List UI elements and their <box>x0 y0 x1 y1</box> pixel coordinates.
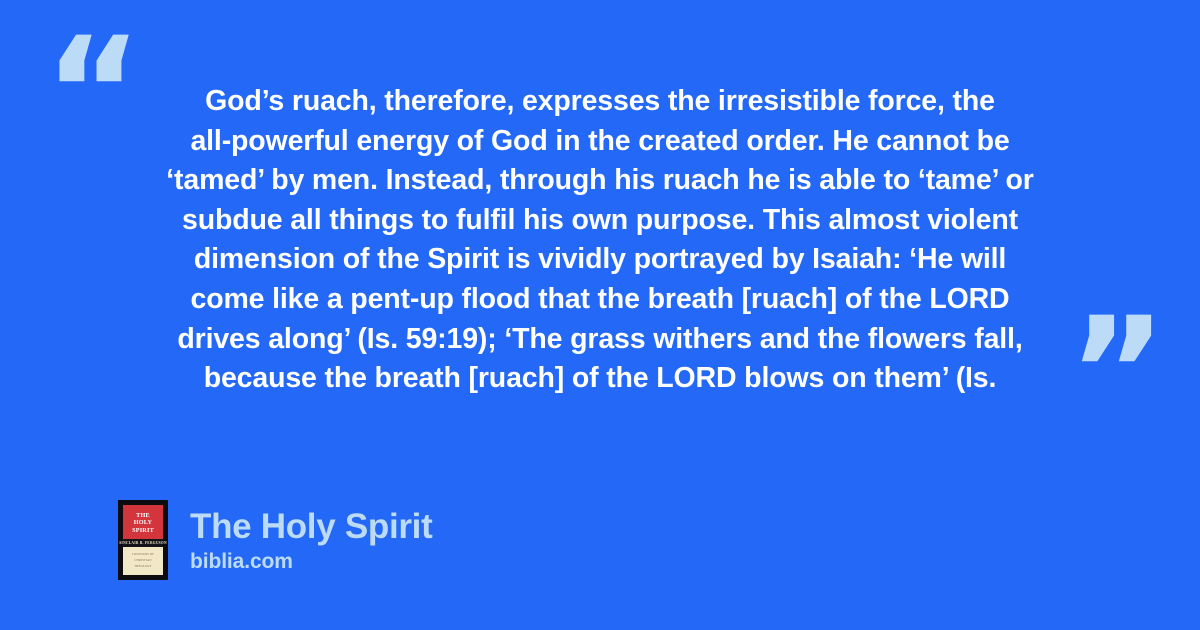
book-cover-series-block: CONTOURS OF CHRISTIAN THEOLOGY <box>123 547 163 575</box>
book-cover-title-line-1: THE <box>136 512 150 519</box>
book-cover-author-band: SINCLAIR B. FERGUSON <box>123 539 163 547</box>
site-url[interactable]: biblia.com <box>190 549 432 574</box>
book-cover-inner: THE HOLY SPIRIT SINCLAIR B. FERGUSON CON… <box>123 505 163 575</box>
book-cover-series-line-3: THEOLOGY <box>134 565 151 568</box>
book-cover-title-line-2: HOLY <box>134 519 152 526</box>
quote-card: “ ” God’s ruach, therefore, expresses th… <box>0 0 1200 630</box>
book-cover-series-line-1: CONTOURS OF <box>132 553 154 556</box>
book-cover-thumbnail[interactable]: THE HOLY SPIRIT SINCLAIR B. FERGUSON CON… <box>118 500 168 580</box>
quote-block: God’s ruach, therefore, expresses the ir… <box>100 82 1100 399</box>
book-cover-author: SINCLAIR B. FERGUSON <box>119 541 167 545</box>
quote-text: God’s ruach, therefore, expresses the ir… <box>100 82 1100 399</box>
book-title[interactable]: The Holy Spirit <box>190 507 432 547</box>
book-cover-title-block: THE HOLY SPIRIT <box>123 505 163 539</box>
book-cover-title-line-3: SPIRIT <box>132 527 154 534</box>
book-cover-series-line-2: CHRISTIAN <box>134 559 151 562</box>
footer: THE HOLY SPIRIT SINCLAIR B. FERGUSON CON… <box>118 500 432 580</box>
footer-text: The Holy Spirit biblia.com <box>190 507 432 574</box>
